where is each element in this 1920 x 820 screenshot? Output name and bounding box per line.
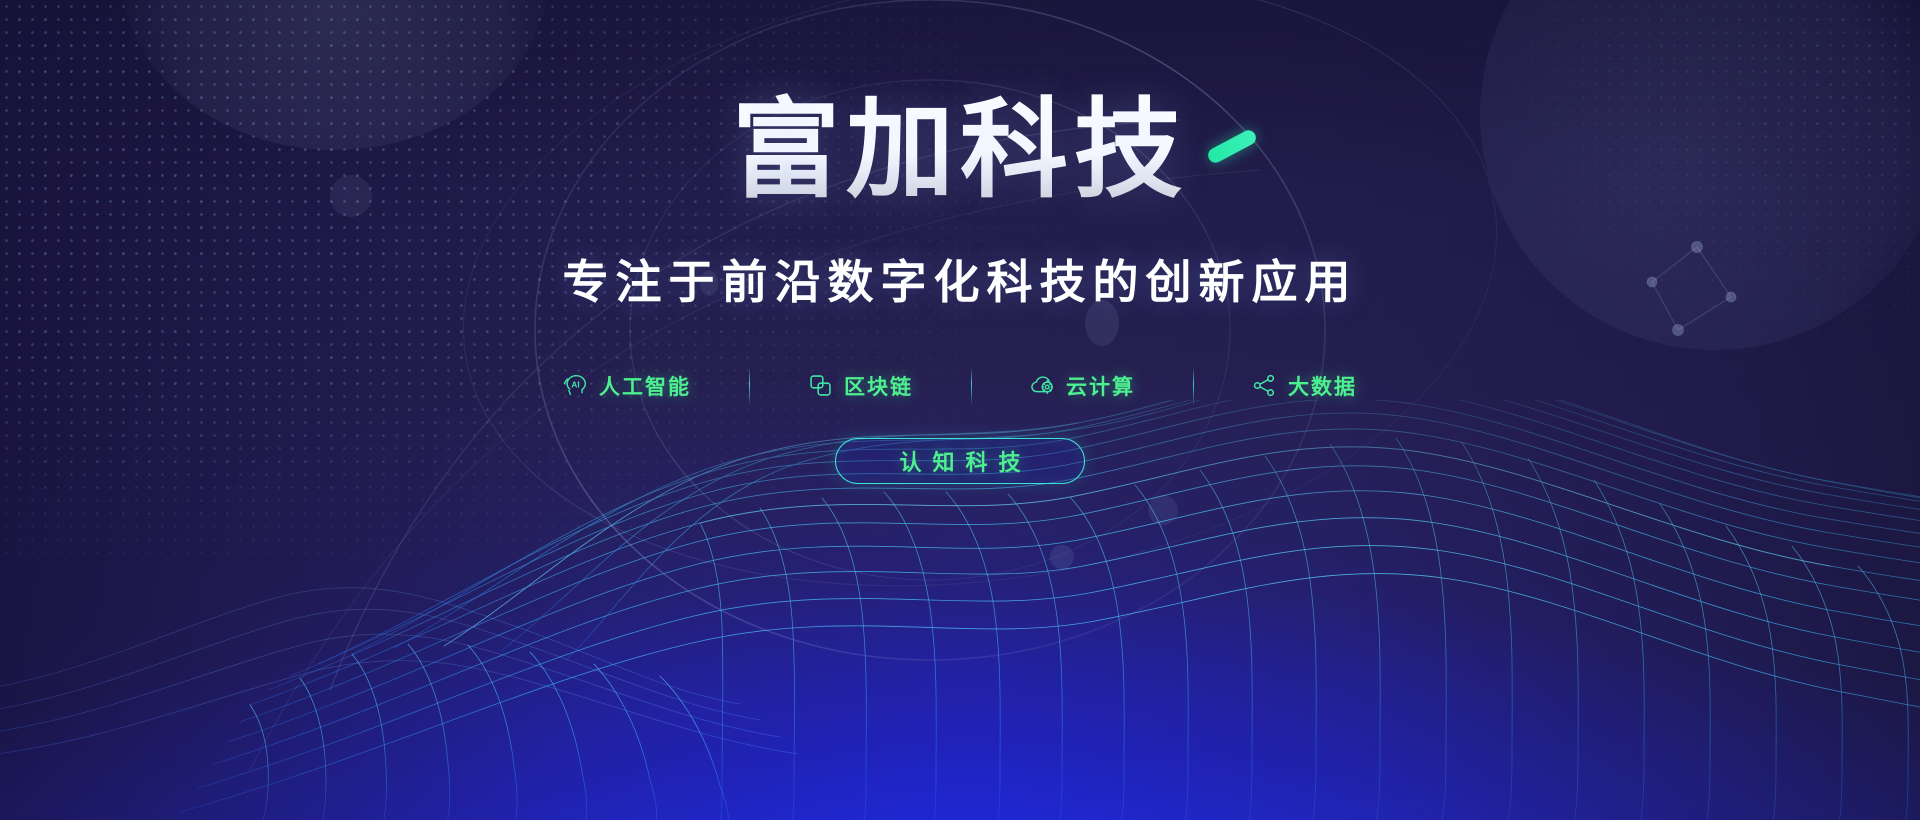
- feature-tag-cloud[interactable]: 云计算: [972, 371, 1193, 401]
- feature-tag-label: 区块链: [844, 371, 913, 401]
- feature-tag-ai[interactable]: AI 人工智能: [505, 371, 749, 401]
- feature-tag-blockchain[interactable]: 区块链: [750, 371, 971, 401]
- feature-tag-label: 人工智能: [599, 371, 691, 401]
- feature-tag-row: AI 人工智能 区块链: [505, 367, 1415, 405]
- brand-title-text: 富加科技: [732, 89, 1188, 210]
- feature-tag-bigdata[interactable]: 大数据: [1194, 371, 1415, 401]
- feature-tag-label: 大数据: [1288, 371, 1357, 401]
- hero-content: 富加科技 专注于前沿数字化科技的创新应用 AI 人工智能: [0, 0, 1920, 820]
- blockchain-blocks-icon: [808, 373, 833, 398]
- cloud-gear-icon: [1030, 373, 1055, 398]
- brand-accent-stroke: [1206, 128, 1259, 166]
- share-nodes-icon: [1252, 373, 1277, 398]
- hero-banner: 富加科技 专注于前沿数字化科技的创新应用 AI 人工智能: [0, 0, 1920, 820]
- svg-text:AI: AI: [571, 381, 579, 390]
- page-subtitle: 专注于前沿数字化科技的创新应用: [563, 246, 1358, 312]
- page-title: 富加科技: [732, 92, 1188, 209]
- cognitive-tech-button[interactable]: 认知科技: [835, 438, 1085, 484]
- ai-head-icon: AI: [563, 373, 588, 398]
- feature-tag-label: 云计算: [1066, 371, 1135, 401]
